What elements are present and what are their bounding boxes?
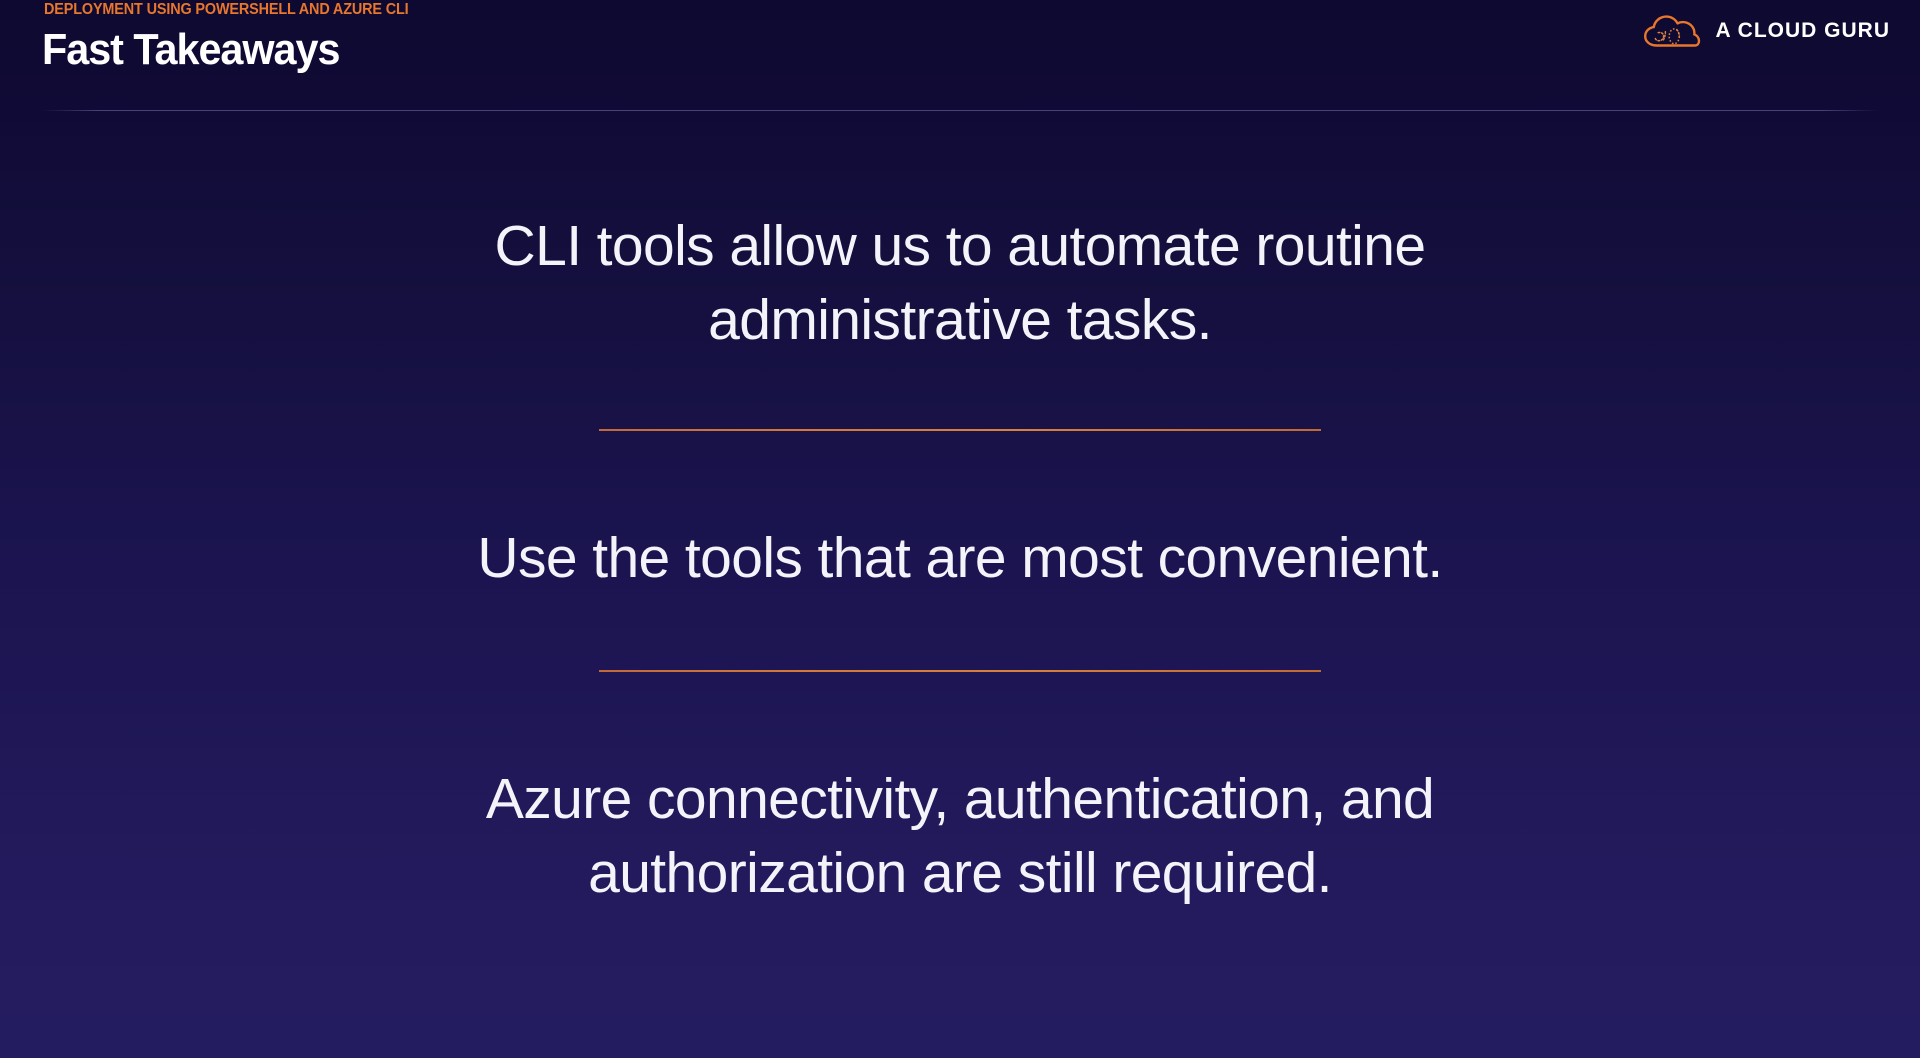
brand-name: A CLOUD GURU (1715, 19, 1890, 43)
takeaway-divider (599, 429, 1321, 431)
page-title: Fast Takeaways (42, 24, 339, 76)
takeaway-item: Azure connectivity, authentication, and … (335, 762, 1585, 910)
takeaway-divider (599, 670, 1321, 672)
slide-body: CLI tools allow us to automate routine a… (0, 110, 1920, 1058)
slide: DEPLOYMENT USING POWERSHELL AND AZURE CL… (0, 0, 1920, 1058)
cloud-icon (1643, 14, 1701, 48)
brand-logo: A CLOUD GURU (1643, 14, 1890, 48)
takeaway-item: Use the tools that are most convenient. (335, 521, 1585, 595)
slide-header: DEPLOYMENT USING POWERSHELL AND AZURE CL… (0, 0, 1920, 110)
takeaway-item: CLI tools allow us to automate routine a… (335, 209, 1585, 357)
course-eyebrow: DEPLOYMENT USING POWERSHELL AND AZURE CL… (44, 0, 409, 20)
